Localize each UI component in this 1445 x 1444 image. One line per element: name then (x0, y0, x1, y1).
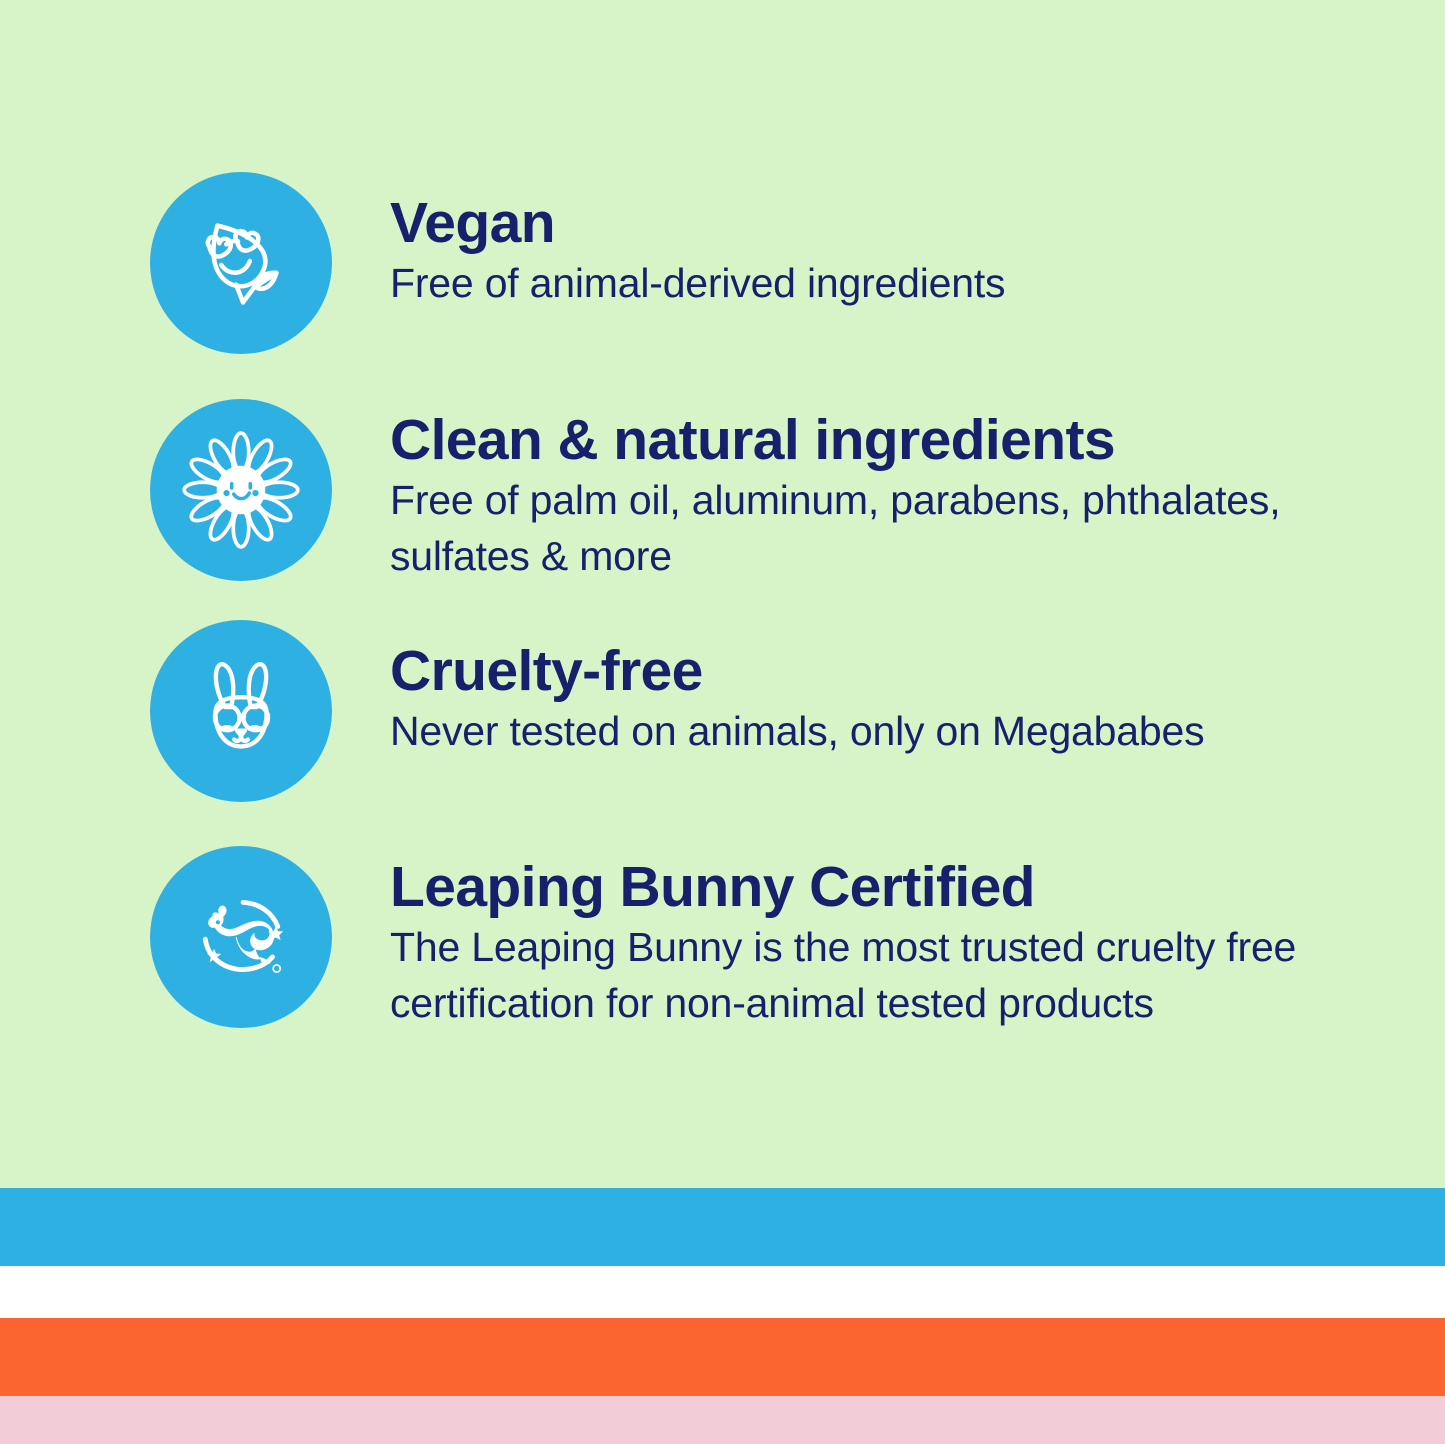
feature-description: Free of palm oil, aluminum, parabens, ph… (390, 473, 1325, 585)
feature-text-block: Leaping Bunny Certified The Leaping Bunn… (390, 846, 1350, 1032)
blue-band (0, 1188, 1445, 1266)
orange-band (0, 1318, 1445, 1396)
feature-text-block: Clean & natural ingredients Free of palm… (390, 399, 1325, 585)
feature-item-vegan: Vegan Free of animal-derived ingredients (150, 172, 1005, 354)
leaf-face-icon (150, 172, 332, 354)
feature-title: Clean & natural ingredients (390, 411, 1325, 469)
feature-description: Free of animal-derived ingredients (390, 256, 1005, 312)
feature-text-block: Vegan Free of animal-derived ingredients (390, 172, 1005, 312)
feature-item-leaping-bunny: Leaping Bunny Certified The Leaping Bunn… (150, 846, 1350, 1032)
daisy-face-icon (150, 399, 332, 581)
feature-title: Vegan (390, 194, 1005, 252)
feature-text-block: Cruelty-free Never tested on animals, on… (390, 620, 1204, 760)
product-benefits-panel: Vegan Free of animal-derived ingredients (0, 0, 1445, 1444)
feature-item-clean-natural: Clean & natural ingredients Free of palm… (150, 399, 1325, 585)
pink-band (0, 1396, 1445, 1444)
bunny-face-glasses-icon (150, 620, 332, 802)
feature-title: Leaping Bunny Certified (390, 858, 1350, 916)
white-band (0, 1266, 1445, 1318)
feature-description: The Leaping Bunny is the most trusted cr… (390, 920, 1350, 1032)
feature-item-cruelty-free: Cruelty-free Never tested on animals, on… (150, 620, 1204, 802)
leaping-bunny-logo-icon (150, 846, 332, 1028)
feature-description: Never tested on animals, only on Megabab… (390, 704, 1204, 760)
feature-title: Cruelty-free (390, 642, 1204, 700)
